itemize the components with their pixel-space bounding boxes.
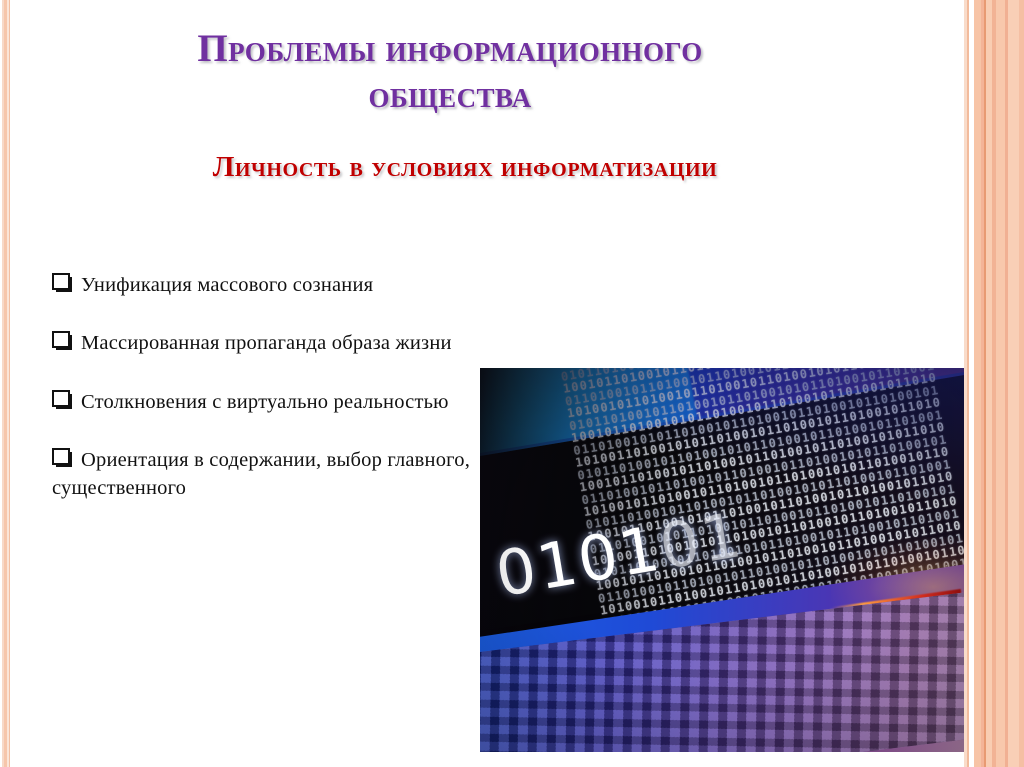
- hollow-square-bullet-icon: [52, 273, 70, 290]
- stripe-left-1: [2, 0, 4, 767]
- stripe-right-11: [1008, 0, 1019, 767]
- stripe-right-7: [986, 0, 992, 767]
- list-item-label: Столкновения с виртуально реальностью: [81, 391, 449, 413]
- stripe-left-3: [7, 0, 9, 767]
- list-item: Ориентация в содержании, выбор главного,…: [52, 447, 472, 502]
- hollow-square-bullet-icon: [52, 390, 70, 407]
- left-decorative-stripes: [0, 0, 16, 767]
- page-subtitle: Личность в условиях информатизации: [70, 150, 860, 185]
- list-item-label: Ориентация в содержании, выбор главного,…: [52, 449, 470, 498]
- page-title-line-2: общества: [60, 72, 840, 118]
- stripe-right-12: [1019, 0, 1024, 767]
- list-item-label: Унификация массового сознания: [81, 274, 373, 296]
- laptop-binary-code-photo: 1010011010010101101001011010010110100101…: [480, 368, 982, 752]
- title-block: Проблемы информационного общества: [60, 26, 840, 118]
- stripe-left-2: [4, 0, 7, 767]
- stripe-right-8: [992, 0, 996, 767]
- photo-inner: 1010011010010101101001011010010110100101…: [480, 368, 982, 752]
- list-item-label: Массированная пропаганда образа жизни: [81, 332, 452, 354]
- bullet-list: Унификация массового сознания Массирован…: [52, 272, 472, 502]
- list-item: Столкновения с виртуально реальностью: [52, 389, 472, 416]
- list-item: Унификация массового сознания: [52, 272, 472, 299]
- presentation-slide: Проблемы информационного общества Личнос…: [0, 0, 1024, 767]
- stripe-right-6: [984, 0, 986, 767]
- stripe-left-4: [9, 0, 10, 767]
- photo-vignette: [480, 368, 982, 752]
- subtitle-block: Личность в условиях информатизации: [70, 150, 860, 185]
- hollow-square-bullet-icon: [52, 331, 70, 348]
- stripe-right-9: [996, 0, 1005, 767]
- page-title-line-1: Проблемы информационного: [60, 26, 840, 72]
- list-item: Массированная пропаганда образа жизни: [52, 330, 472, 357]
- stripe-right-10: [1005, 0, 1008, 767]
- hollow-square-bullet-icon: [52, 448, 70, 465]
